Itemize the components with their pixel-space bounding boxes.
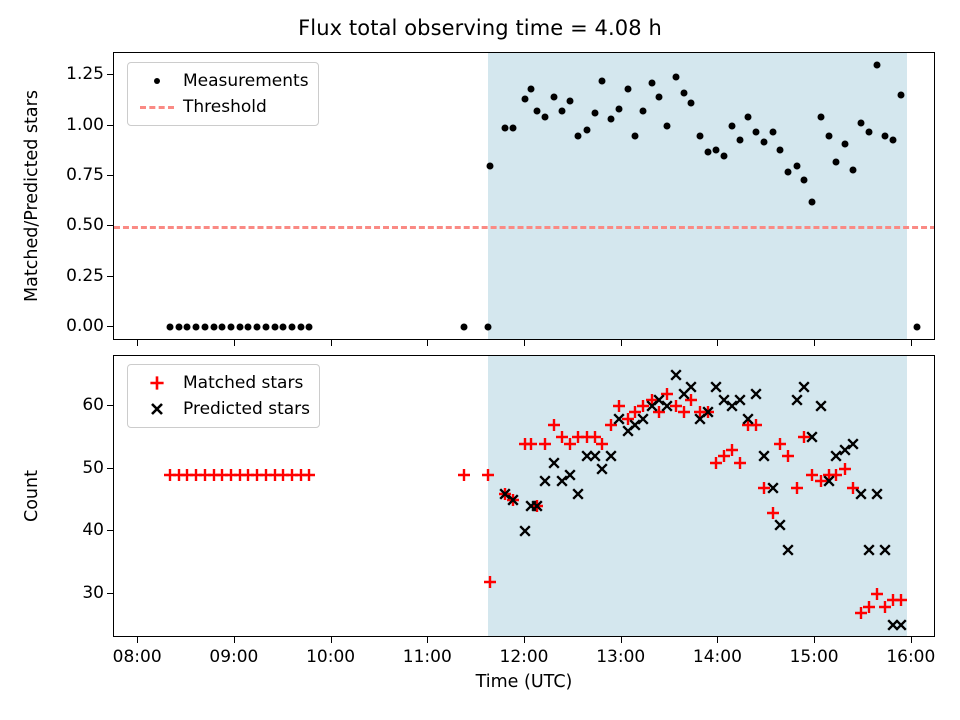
measurement-point xyxy=(527,86,534,93)
dashed-line-marker-icon xyxy=(135,106,179,109)
measurement-point xyxy=(849,166,856,173)
threshold-line xyxy=(114,226,934,229)
measurement-point xyxy=(881,132,888,139)
measurement-point xyxy=(288,323,295,330)
y-tick-mark xyxy=(107,326,113,327)
measurement-point xyxy=(817,114,824,121)
measurement-point xyxy=(753,128,760,135)
measurement-point xyxy=(485,323,492,330)
matched-star-point xyxy=(188,467,204,483)
matched-star-point xyxy=(258,467,274,483)
y-tick-mark xyxy=(107,74,113,75)
measurement-point xyxy=(501,124,508,131)
x-tick-label: 14:00 xyxy=(693,647,742,667)
measurement-point xyxy=(487,162,494,169)
measurement-point xyxy=(624,86,631,93)
matched-star-point xyxy=(206,467,222,483)
legend-item-threshold: Threshold xyxy=(135,94,309,120)
measurement-point xyxy=(306,323,313,330)
ratio-panel-legend: Measurements Threshold xyxy=(127,62,319,126)
legend-label-predicted-stars: Predicted stars xyxy=(179,399,310,419)
measurement-point xyxy=(825,132,832,139)
matched-star-point xyxy=(267,467,283,483)
y-tick-label: 0.75 xyxy=(66,165,104,185)
measurement-point xyxy=(769,128,776,135)
measurement-point xyxy=(898,92,905,99)
measurement-point xyxy=(697,132,704,139)
x-tick-mark xyxy=(911,340,912,346)
y-tick-mark xyxy=(107,175,113,176)
measurement-point xyxy=(599,78,606,85)
matched-star-point xyxy=(293,467,309,483)
measurement-point xyxy=(680,90,687,97)
y-tick-mark xyxy=(107,530,113,531)
matched-star-point xyxy=(214,467,230,483)
measurement-point xyxy=(793,162,800,169)
x-tick-mark xyxy=(137,637,138,643)
x-tick-mark xyxy=(814,340,815,346)
matched-star-point xyxy=(171,467,187,483)
legend-item-matched-stars: Matched stars xyxy=(135,370,310,396)
measurement-point xyxy=(583,126,590,133)
measurement-point xyxy=(461,323,468,330)
measurement-point xyxy=(280,323,287,330)
measurement-point xyxy=(228,323,235,330)
measurement-point xyxy=(567,98,574,105)
x-tick-mark xyxy=(234,340,235,346)
cross-marker-icon xyxy=(135,399,179,419)
y-tick-label: 50 xyxy=(82,458,104,478)
measurement-point xyxy=(193,323,200,330)
x-tick-mark xyxy=(331,637,332,643)
x-tick-label: 09:00 xyxy=(209,647,258,667)
measurement-point xyxy=(785,168,792,175)
x-tick-mark xyxy=(621,637,622,643)
x-tick-mark xyxy=(621,340,622,346)
measurement-point xyxy=(262,323,269,330)
matched-star-point xyxy=(301,467,317,483)
y-tick-mark xyxy=(107,276,113,277)
measurement-point xyxy=(558,108,565,115)
legend-label-measurements: Measurements xyxy=(179,71,309,91)
matched-star-point xyxy=(275,467,291,483)
matched-star-point xyxy=(249,467,265,483)
matched-star-point xyxy=(223,467,239,483)
measurement-point xyxy=(297,323,304,330)
x-tick-label: 16:00 xyxy=(886,647,935,667)
legend-item-predicted-stars: Predicted stars xyxy=(135,396,310,422)
measurement-point xyxy=(551,94,558,101)
legend-label-threshold: Threshold xyxy=(179,97,267,117)
x-tick-label: 15:00 xyxy=(790,647,839,667)
x-tick-mark xyxy=(524,340,525,346)
measurement-point xyxy=(721,152,728,159)
matched-star-point xyxy=(232,467,248,483)
measurement-point xyxy=(890,136,897,143)
measurement-point xyxy=(688,100,695,107)
y-tick-label: 0.25 xyxy=(66,266,104,286)
measurement-point xyxy=(175,323,182,330)
y-tick-mark xyxy=(107,405,113,406)
matched-star-point xyxy=(179,467,195,483)
measurement-point xyxy=(533,108,540,115)
x-tick-mark xyxy=(717,340,718,346)
measurement-point xyxy=(672,74,679,81)
measurement-point xyxy=(236,323,243,330)
observing-window-shading xyxy=(488,356,907,636)
x-tick-label: 08:00 xyxy=(113,647,162,667)
chart-title: Flux total observing time = 4.08 h xyxy=(0,16,960,40)
matched-star-point xyxy=(197,467,213,483)
figure-canvas: Flux total observing time = 4.08 h 0.000… xyxy=(0,0,960,720)
measurement-point xyxy=(913,323,920,330)
measurement-point xyxy=(777,146,784,153)
y-tick-label: 0.50 xyxy=(66,215,104,235)
x-tick-label: 10:00 xyxy=(306,647,355,667)
x-tick-mark xyxy=(234,637,235,643)
measurement-point xyxy=(615,106,622,113)
measurement-point xyxy=(591,110,598,117)
plus-marker-icon xyxy=(135,373,179,393)
measurement-point xyxy=(866,128,873,135)
x-tick-mark xyxy=(137,340,138,346)
y-tick-mark xyxy=(107,593,113,594)
measurement-point xyxy=(271,323,278,330)
measurement-point xyxy=(510,124,517,131)
measurement-point xyxy=(608,116,615,123)
measurement-point xyxy=(801,176,808,183)
measurement-point xyxy=(184,323,191,330)
matched-star-point xyxy=(284,467,300,483)
measurement-point xyxy=(656,94,663,101)
y-tick-mark xyxy=(107,125,113,126)
matched-star-point xyxy=(162,467,178,483)
x-tick-mark xyxy=(427,637,428,643)
x-tick-mark xyxy=(717,637,718,643)
y-tick-label: 40 xyxy=(82,520,104,540)
matched-star-point xyxy=(456,467,472,483)
y-tick-mark xyxy=(107,225,113,226)
measurement-point xyxy=(632,132,639,139)
y-tick-label: 60 xyxy=(82,395,104,415)
measurement-point xyxy=(664,122,671,129)
measurement-point xyxy=(728,122,735,129)
measurement-point xyxy=(842,140,849,147)
measurement-point xyxy=(219,323,226,330)
measurement-point xyxy=(210,323,217,330)
y-tick-label: 30 xyxy=(82,583,104,603)
count-panel-legend: Matched stars Predicted stars xyxy=(127,364,320,428)
legend-label-matched-stars: Matched stars xyxy=(179,373,303,393)
measurement-point xyxy=(167,323,174,330)
measurement-point xyxy=(201,323,208,330)
x-tick-mark xyxy=(524,637,525,643)
x-tick-mark xyxy=(427,340,428,346)
x-tick-label: 12:00 xyxy=(500,647,549,667)
measurement-point xyxy=(575,132,582,139)
measurement-point xyxy=(874,62,881,69)
y-tick-label: 1.00 xyxy=(66,115,104,135)
measurement-point xyxy=(745,114,752,121)
x-tick-label: 11:00 xyxy=(403,647,452,667)
x-tick-mark xyxy=(814,637,815,643)
measurement-point xyxy=(704,148,711,155)
dot-marker-icon xyxy=(135,78,179,84)
legend-item-measurements: Measurements xyxy=(135,68,309,94)
measurement-point xyxy=(639,108,646,115)
x-tick-mark xyxy=(911,637,912,643)
time-axis-label: Time (UTC) xyxy=(476,672,573,692)
measurement-point xyxy=(542,114,549,121)
measurement-point xyxy=(736,136,743,143)
measurement-point xyxy=(254,323,261,330)
x-tick-label: 13:00 xyxy=(596,647,645,667)
measurement-point xyxy=(712,146,719,153)
measurement-point xyxy=(809,199,816,206)
y-tick-label: 1.25 xyxy=(66,64,104,84)
measurement-point xyxy=(648,80,655,87)
y-tick-mark xyxy=(107,468,113,469)
x-tick-mark xyxy=(331,340,332,346)
measurement-point xyxy=(245,323,252,330)
matched-star-point xyxy=(240,467,256,483)
ratio-panel-ylabel: Matched/Predicted stars xyxy=(22,90,42,302)
measurement-point xyxy=(833,158,840,165)
y-tick-label: 0.00 xyxy=(66,316,104,336)
measurement-point xyxy=(857,120,864,127)
count-panel-ylabel: Count xyxy=(22,470,42,522)
measurement-point xyxy=(760,138,767,145)
measurement-point xyxy=(522,96,529,103)
